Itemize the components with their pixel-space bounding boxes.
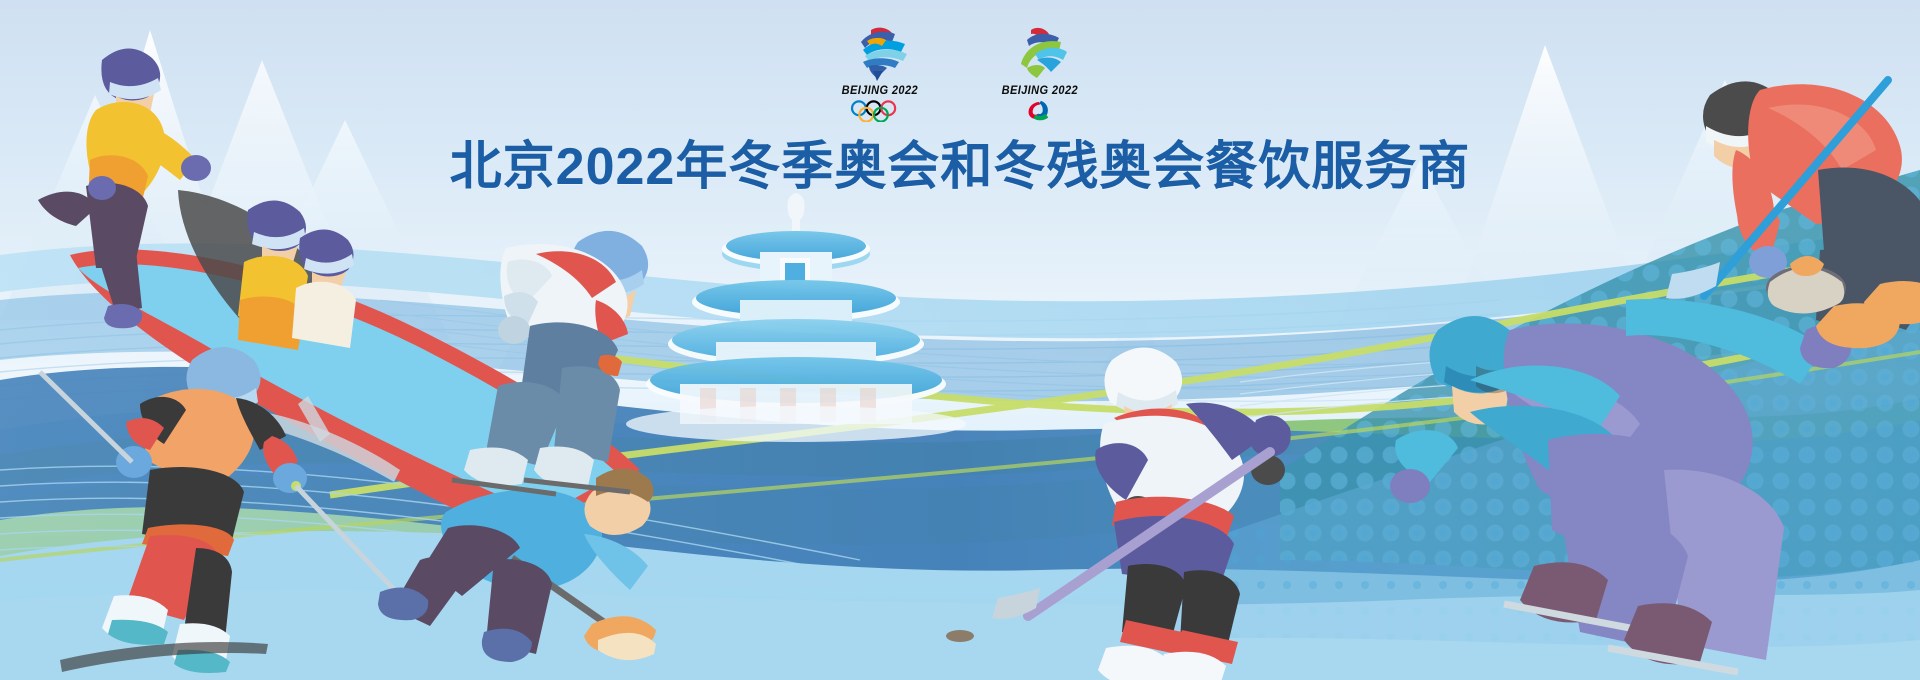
athlete-ice-hockey-player: [946, 347, 1291, 680]
winter-dream-emblem-icon: [847, 24, 913, 82]
olympic-emblem: BEIJING 2022: [820, 24, 940, 122]
athlete-curler-sweeper: [378, 468, 656, 662]
emblems-group: BEIJING 2022: [0, 24, 1920, 122]
olympic-wordmark: BEIJING 2022: [842, 85, 918, 97]
page-title: 北京2022年冬季奥会和冬残奥会餐饮服务商: [0, 124, 1920, 199]
flying-emblem-icon: [1007, 24, 1073, 82]
paralympic-wordmark: BEIJING 2022: [1002, 85, 1078, 97]
paralympic-emblem: BEIJING 2022: [980, 24, 1100, 122]
beijing-2022-banner: BEIJING 2022: [0, 0, 1920, 680]
athlete-speed-skater-right: [1390, 299, 1851, 672]
olympic-rings-icon: [845, 100, 915, 122]
paralympic-agitos-icon: [1005, 100, 1075, 122]
